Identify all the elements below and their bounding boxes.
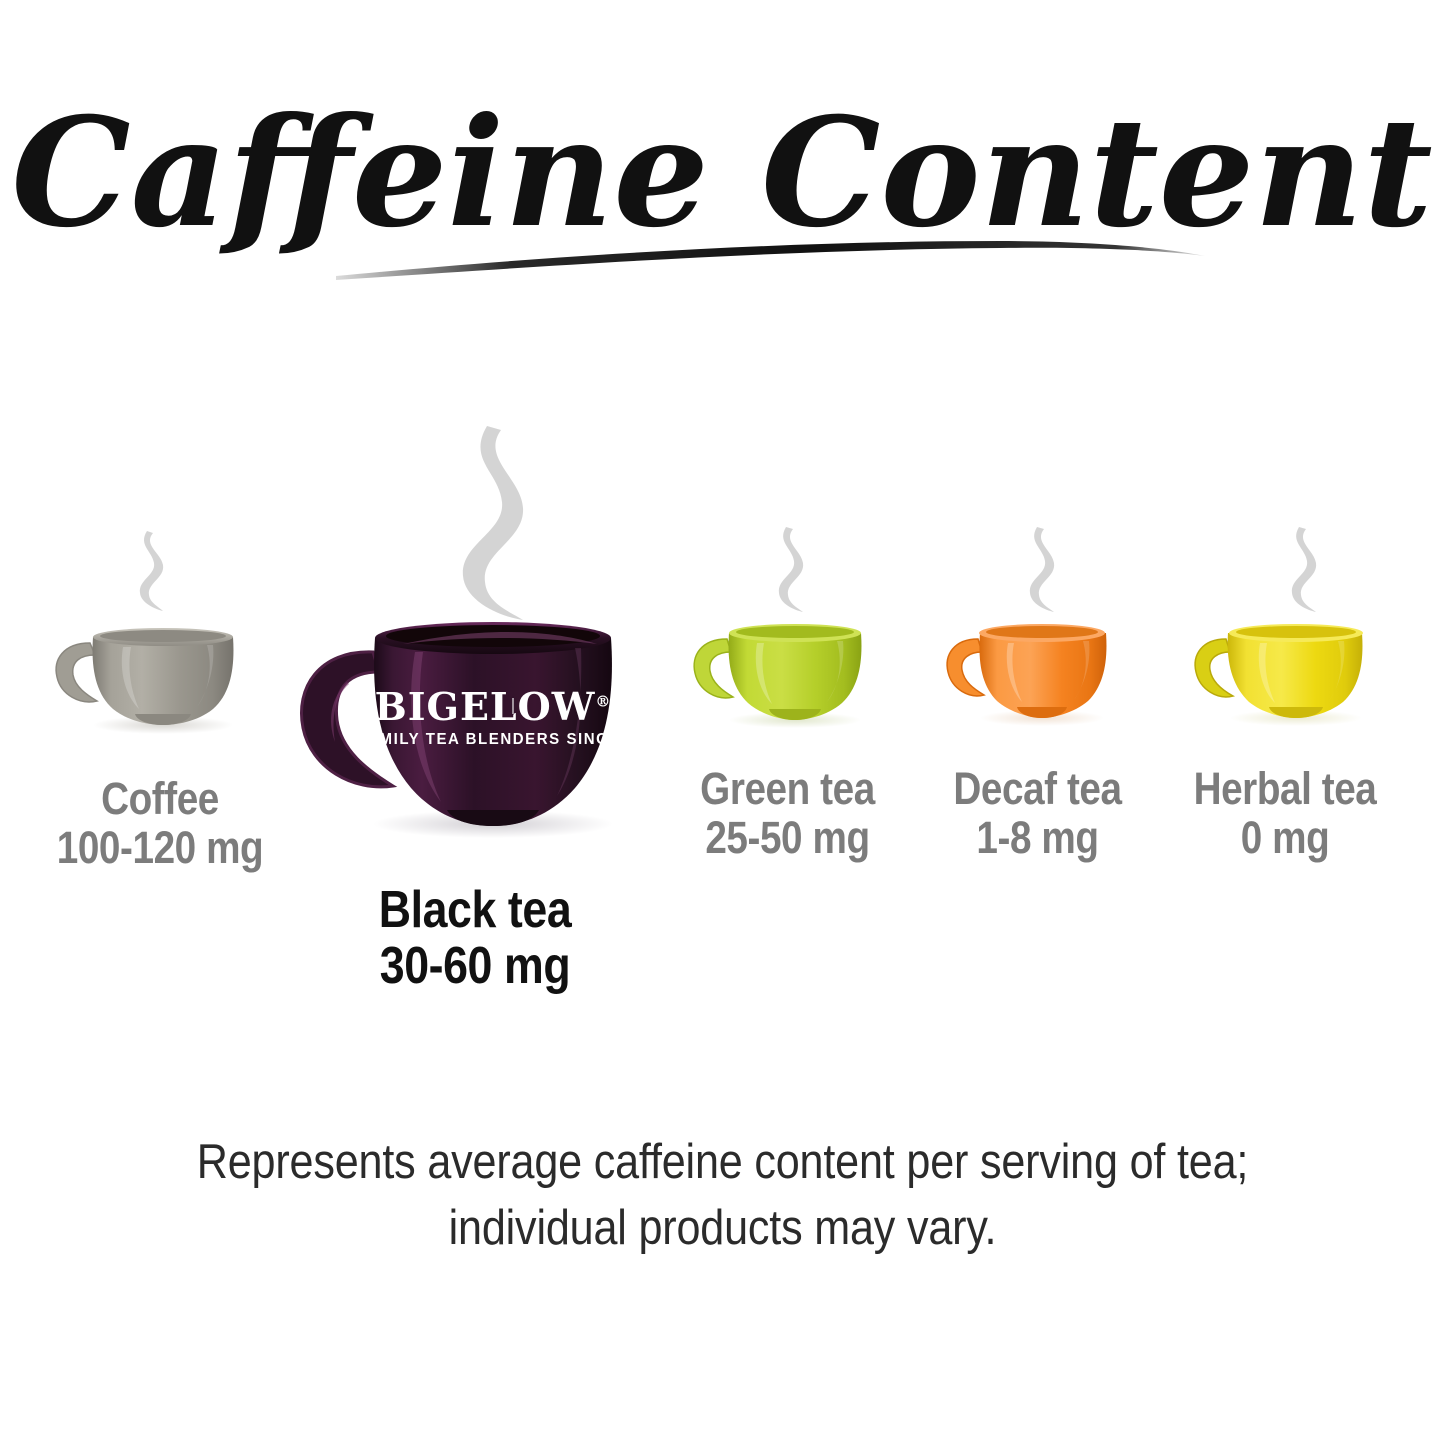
cup-value: 30-60 mg [299,938,652,994]
cup-label-coffee: Coffee 100-120 mg [53,775,268,872]
cup-value: 1-8 mg [936,814,1138,863]
steam-wisp-icon [463,426,523,620]
cup-handle [56,643,97,702]
footer-note: Represents average caffeine content per … [0,1130,1445,1261]
cup-name: Herbal tea [1178,765,1393,814]
decaf-tea-cup-art [920,515,1155,765]
cup-label-herbal-tea: Herbal tea 0 mg [1178,765,1393,862]
steam-wisp-icon [1030,527,1054,612]
steam-wisp-icon [779,527,803,612]
cup-interior [1236,626,1356,638]
cup-name: Black tea [299,882,652,938]
cup-label-decaf-tea: Decaf tea 1-8 mg [936,765,1138,862]
green-tea-cup-art [665,515,910,765]
black-tea-cup-art: BIGELOW® FAMILY TEA BLENDERS SINCE 1945 [275,420,675,860]
cup-name: Decaf tea [936,765,1138,814]
cup-cell-black-tea[interactable]: BIGELOW® FAMILY TEA BLENDERS SINCE 1945 … [270,420,680,994]
cup-cell-coffee[interactable]: Coffee 100-120 mg [35,515,285,872]
footer-line-1: Represents average caffeine content per … [87,1130,1359,1196]
cup-value: 0 mg [1178,814,1393,863]
herbal-tea-cup-art [1160,515,1410,765]
cup-interior [986,626,1098,638]
footer-line-2: individual products may vary. [87,1196,1359,1262]
cup-cell-green-tea[interactable]: Green tea 25-50 mg [665,515,910,862]
cup-cell-decaf-tea[interactable]: Decaf tea 1-8 mg [920,515,1155,862]
cup-handle [947,639,984,696]
cup-value: 100-120 mg [53,824,268,873]
title-block: Caffeine Content [0,0,1445,320]
coffee-cup-art [35,515,285,775]
cup-label-green-tea: Green tea 25-50 mg [682,765,893,862]
cup-cell-herbal-tea[interactable]: Herbal tea 0 mg [1160,515,1410,862]
cup-interior [100,630,226,642]
steam-wisp-icon [140,531,163,611]
cup-name: Coffee [53,775,268,824]
cup-handle [694,639,733,698]
title-svg: Caffeine Content [0,0,1445,320]
cup-name: Green tea [682,765,893,814]
cup-interior [736,626,854,638]
cup-label-black-tea: Black tea 30-60 mg [299,882,652,994]
page-title: Caffeine Content [11,85,1432,261]
cup-handle [1195,639,1233,697]
cup-row: Coffee 100-120 mg [0,420,1445,1060]
steam-wisp-icon [1292,527,1316,612]
cup-value: 25-50 mg [682,814,893,863]
